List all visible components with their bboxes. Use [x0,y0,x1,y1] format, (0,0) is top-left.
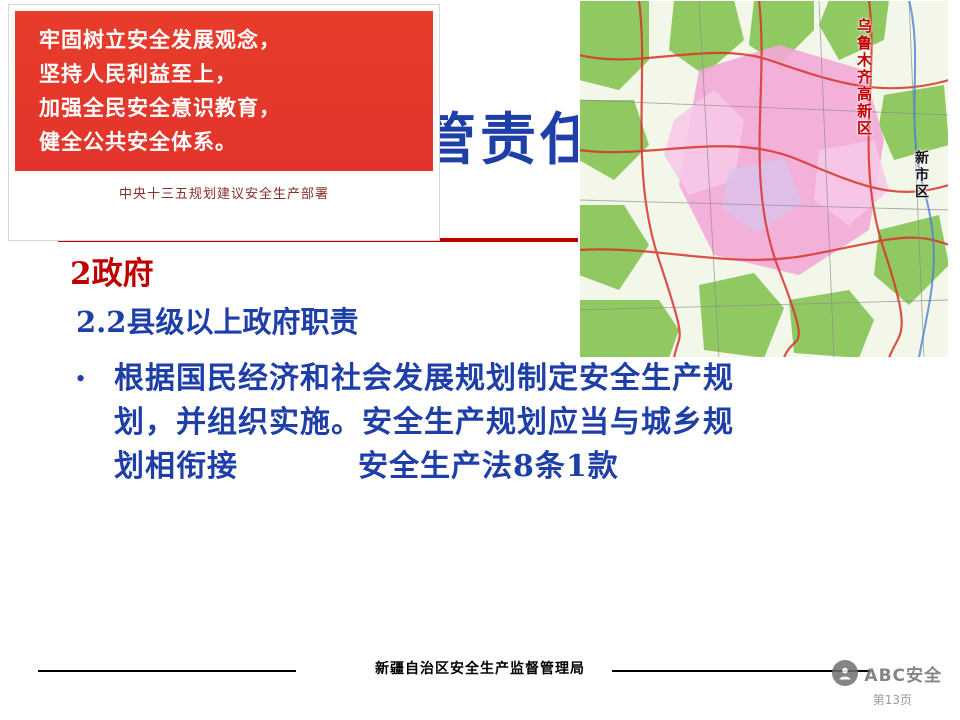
bullet-text-block: 根据国民经济和社会发展规划制定安全生产规 划，并组织实施。安全生产规划应当与城乡… [114,357,734,489]
page-number: 第13页 [873,691,912,708]
poster-line-3: 加强全民安全意识教育， [39,91,433,125]
map-graphic [579,0,949,358]
poster-caption: 中央十三五规划建议安全生产部署 [9,183,439,202]
poster-slogan-lines: 牢固树立安全发展观念， 坚持人民利益至上， 加强全民安全意识教育， 健全公共安全… [15,11,433,159]
slide-canvas: 监管责任 牢固树立安全发展观念， 坚持人民利益至上， 加强全民安全意识教育， 健… [0,0,960,720]
urumqi-map-image: 乌鲁木齐高新区 新市区 [578,0,949,358]
bullet-item: • 根据国民经济和社会发展规划制定安全生产规 划，并组织实施。安全生产规划应当与… [72,357,902,489]
bullet-marker-icon: • [72,357,114,401]
map-label-sub: 新市区 [911,150,931,201]
poster-line-2: 坚持人民利益至上， [39,57,433,91]
footer-organization: 新疆自治区安全生产监督管理局 [0,658,960,678]
user-circle-icon [832,660,858,686]
poster-red-panel: 牢固树立安全发展观念， 坚持人民利益至上， 加强全民安全意识教育， 健全公共安全… [15,11,433,171]
bullet-line-2: 划，并组织实施。安全生产规划应当与城乡规 [114,405,734,440]
poster-line-4: 健全公共安全体系。 [39,125,433,159]
legal-reference: 安全生产法8条1款 [358,445,619,489]
watermark-text: ABC安全 [864,661,942,686]
bullet-line-3: 划相衔接 [114,449,238,484]
safety-poster-image: 牢固树立安全发展观念， 坚持人民利益至上， 加强全民安全意识教育， 健全公共安全… [8,4,440,241]
slide-footer: 新疆自治区安全生产监督管理局 第13页 [0,648,960,720]
watermark: ABC安全 [832,660,942,686]
map-label-main: 乌鲁木齐高新区 [854,18,875,137]
poster-line-1: 牢固树立安全发展观念， [39,23,433,57]
bullet-line-1: 根据国民经济和社会发展规划制定安全生产规 [114,361,734,396]
